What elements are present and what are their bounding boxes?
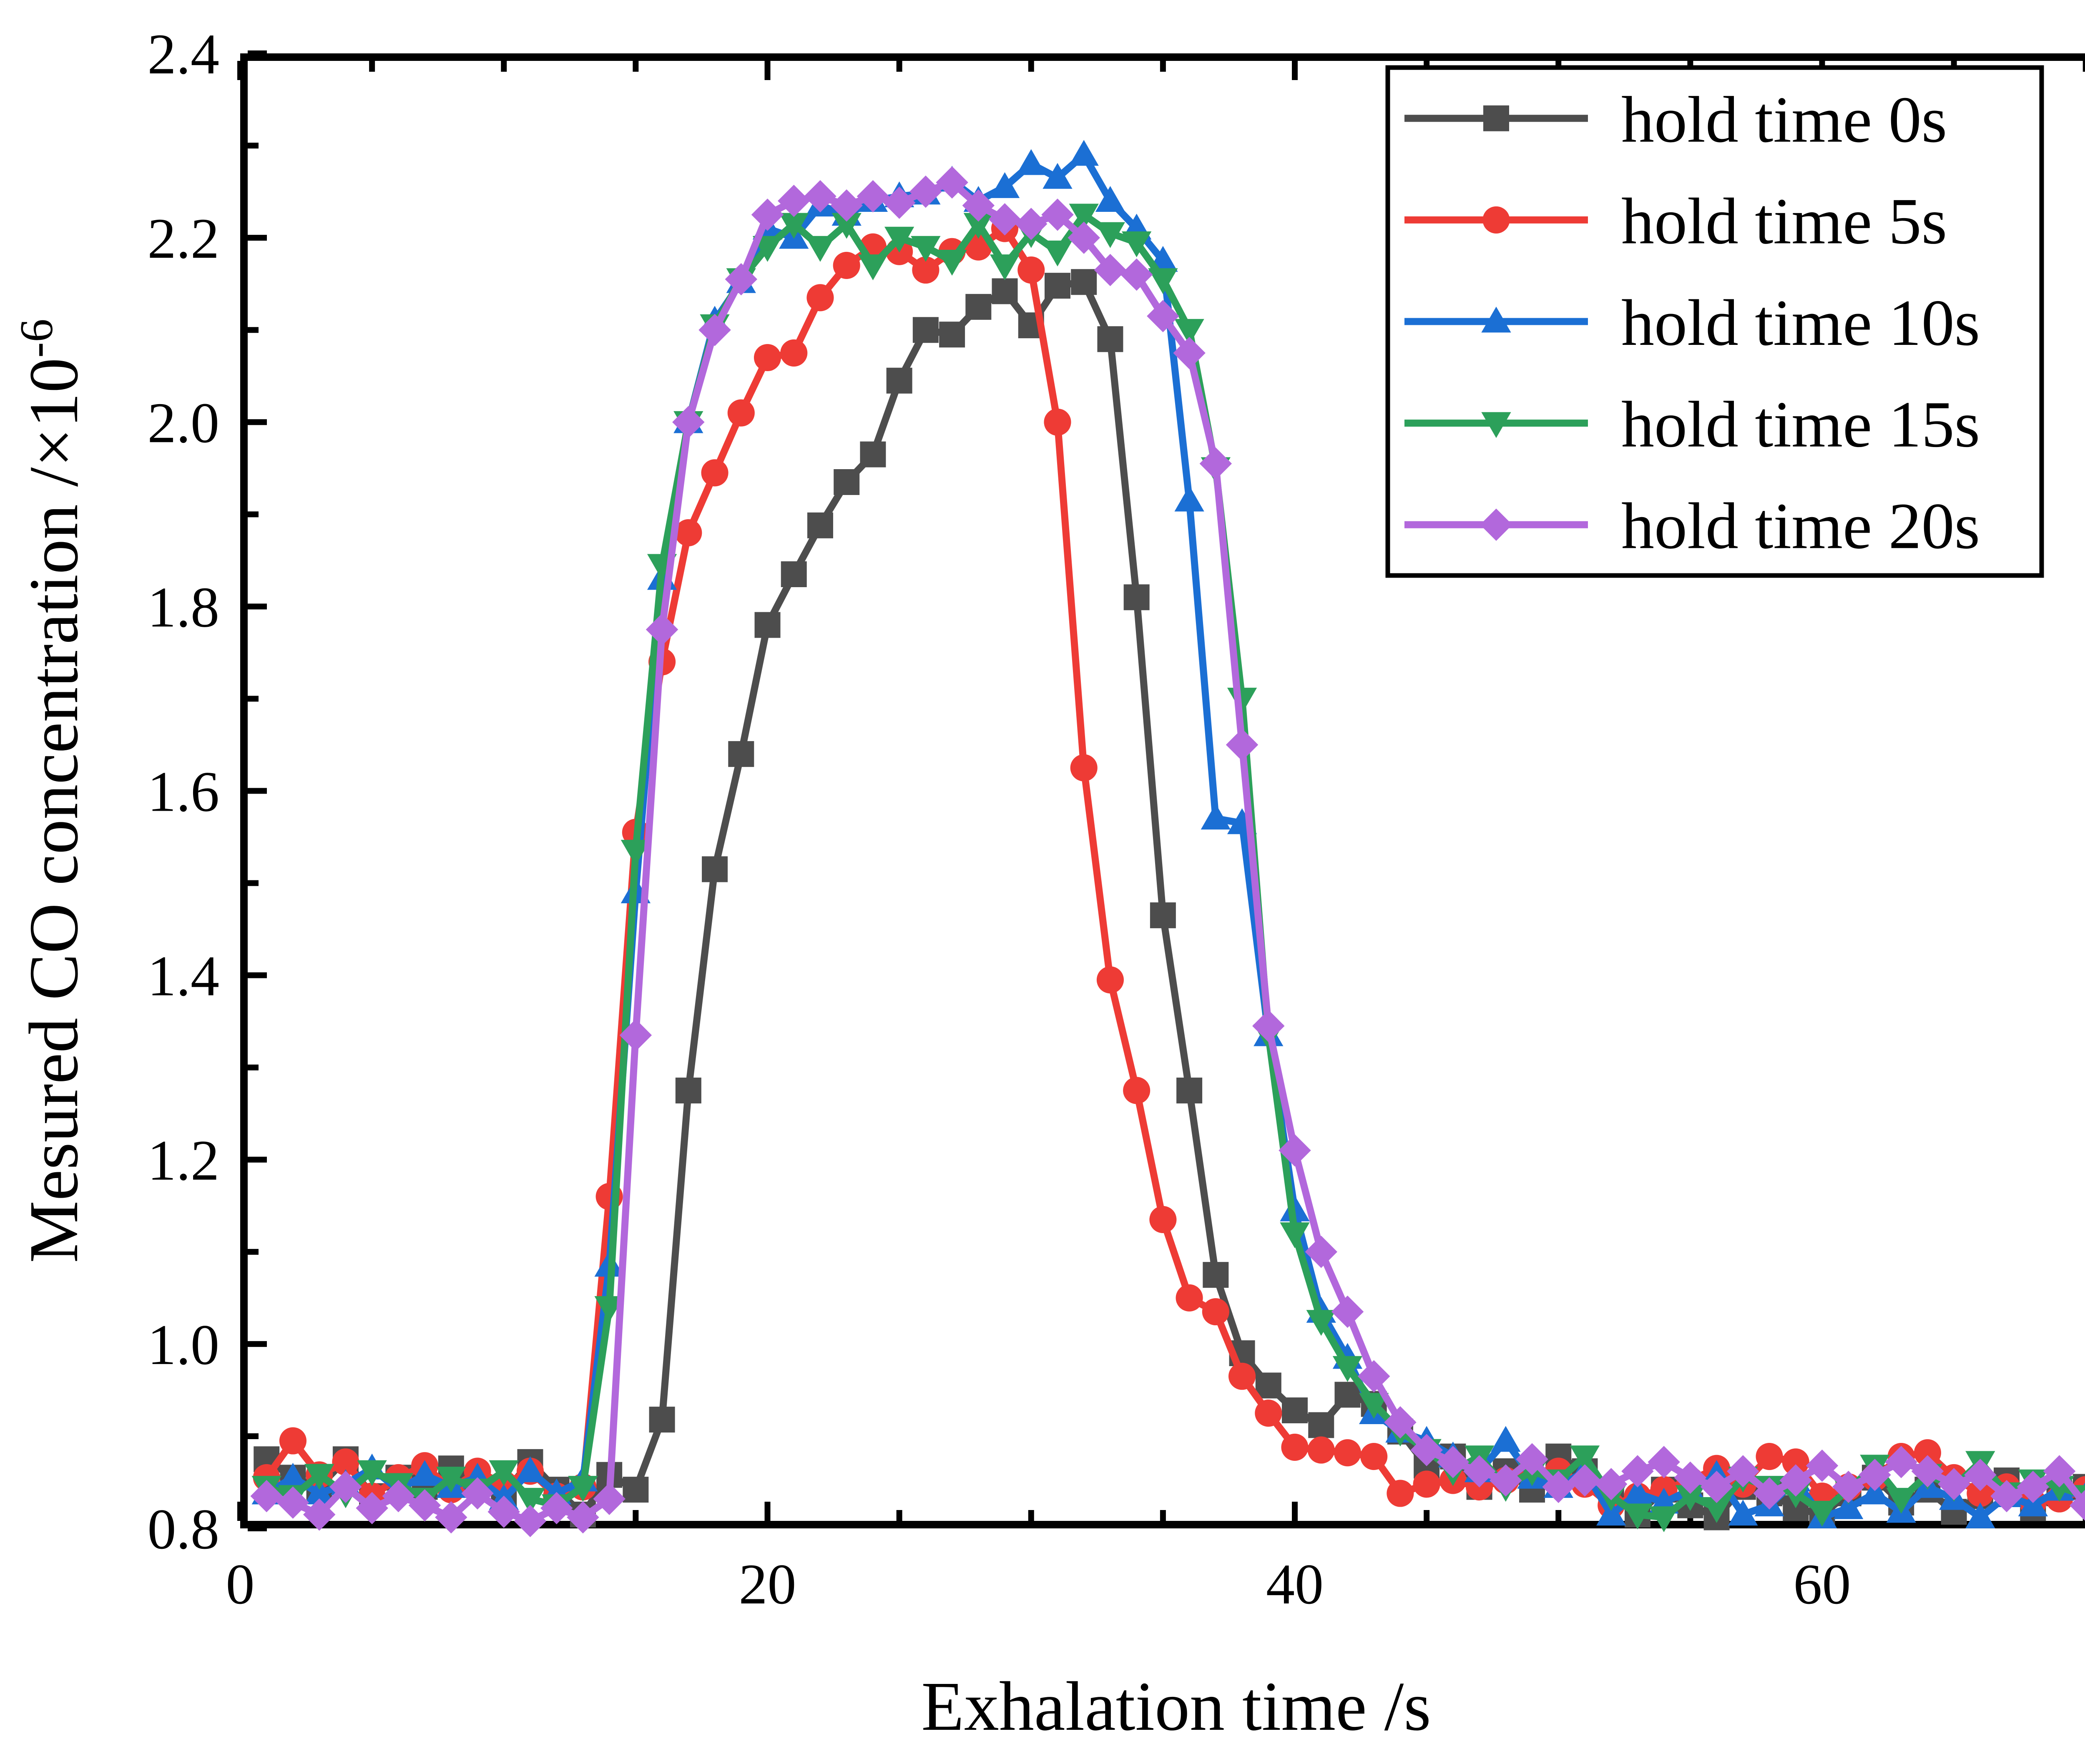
data-point xyxy=(913,317,939,343)
line-chart: 0.81.01.21.41.61.82.02.22.4 0204060 Exha… xyxy=(0,0,2085,1764)
y-tick-label: 2.0 xyxy=(148,391,220,455)
data-point xyxy=(728,741,754,767)
data-point xyxy=(1360,1443,1387,1470)
legend-label: hold time 0s xyxy=(1621,83,1947,156)
data-point xyxy=(1413,1470,1440,1498)
x-tick-label: 0 xyxy=(226,1552,255,1616)
data-point xyxy=(992,278,1018,304)
data-point xyxy=(1255,1400,1282,1427)
y-tick-label: 1.6 xyxy=(148,760,220,824)
data-point xyxy=(1308,1412,1334,1438)
data-point xyxy=(1203,1262,1228,1288)
data-point xyxy=(1334,1439,1361,1466)
y-axis-title: Mesured CO concentration /×10-6 xyxy=(11,319,93,1263)
legend-marker xyxy=(1483,106,1509,131)
y-tick-label: 1.0 xyxy=(148,1313,220,1377)
data-point xyxy=(1071,269,1097,295)
data-point xyxy=(1150,902,1176,928)
data-point xyxy=(1149,1206,1176,1233)
legend-label: hold time 10s xyxy=(1621,286,1980,359)
data-point xyxy=(623,1477,648,1503)
y-tick-label: 1.8 xyxy=(148,575,220,639)
data-point xyxy=(781,561,807,587)
data-point xyxy=(1202,1298,1229,1325)
y-tick-label: 0.8 xyxy=(148,1497,220,1561)
data-point xyxy=(701,459,728,486)
x-tick-label: 20 xyxy=(739,1552,796,1616)
data-point xyxy=(649,1407,675,1432)
data-point xyxy=(676,1078,701,1103)
x-tick-label: 40 xyxy=(1266,1552,1324,1616)
data-point xyxy=(1308,1437,1335,1464)
data-point xyxy=(1282,1397,1308,1423)
data-point xyxy=(1045,273,1070,299)
data-point xyxy=(807,513,833,538)
y-tick-label: 2.4 xyxy=(148,22,220,86)
legend-label: hold time 20s xyxy=(1621,490,1980,563)
data-point xyxy=(1123,1077,1150,1104)
legend-label: hold time 15s xyxy=(1621,388,1980,461)
data-point xyxy=(755,612,781,638)
x-axis-title: Exhalation time /s xyxy=(921,1668,1431,1745)
data-point xyxy=(965,294,991,320)
data-point xyxy=(780,339,807,367)
data-point xyxy=(702,856,728,882)
data-point xyxy=(279,1427,306,1454)
data-point xyxy=(1176,1078,1202,1103)
data-point xyxy=(1124,584,1150,610)
data-point xyxy=(1281,1434,1308,1461)
data-point xyxy=(1228,1363,1256,1390)
data-point xyxy=(1070,754,1098,781)
data-point xyxy=(1097,326,1123,352)
chart-page: 0.81.01.21.41.61.82.02.22.4 0204060 Exha… xyxy=(0,0,2085,1764)
data-point xyxy=(1756,1443,1783,1470)
data-point xyxy=(1176,1284,1203,1312)
data-point xyxy=(806,284,834,311)
data-point xyxy=(834,469,859,495)
data-point xyxy=(887,368,912,394)
data-point xyxy=(939,322,965,347)
data-point xyxy=(754,344,781,371)
y-tick-label: 2.2 xyxy=(148,206,220,270)
y-tick-label: 1.2 xyxy=(148,1128,220,1192)
legend-label: hold time 5s xyxy=(1621,185,1947,258)
y-tick-label: 1.4 xyxy=(148,944,220,1008)
data-point xyxy=(860,442,886,467)
legend-marker xyxy=(1482,206,1510,234)
data-point xyxy=(728,400,755,427)
x-tick-label: 60 xyxy=(1794,1552,1851,1616)
legend[interactable]: hold time 0shold time 5shold time 10shol… xyxy=(1388,68,2042,575)
data-point xyxy=(1387,1480,1414,1507)
data-point xyxy=(1044,409,1071,436)
data-point xyxy=(833,252,860,279)
y-axis-tick-labels: 0.81.01.21.41.61.82.02.22.4 xyxy=(148,22,220,1561)
data-point xyxy=(1097,966,1124,993)
data-point xyxy=(1017,256,1045,284)
